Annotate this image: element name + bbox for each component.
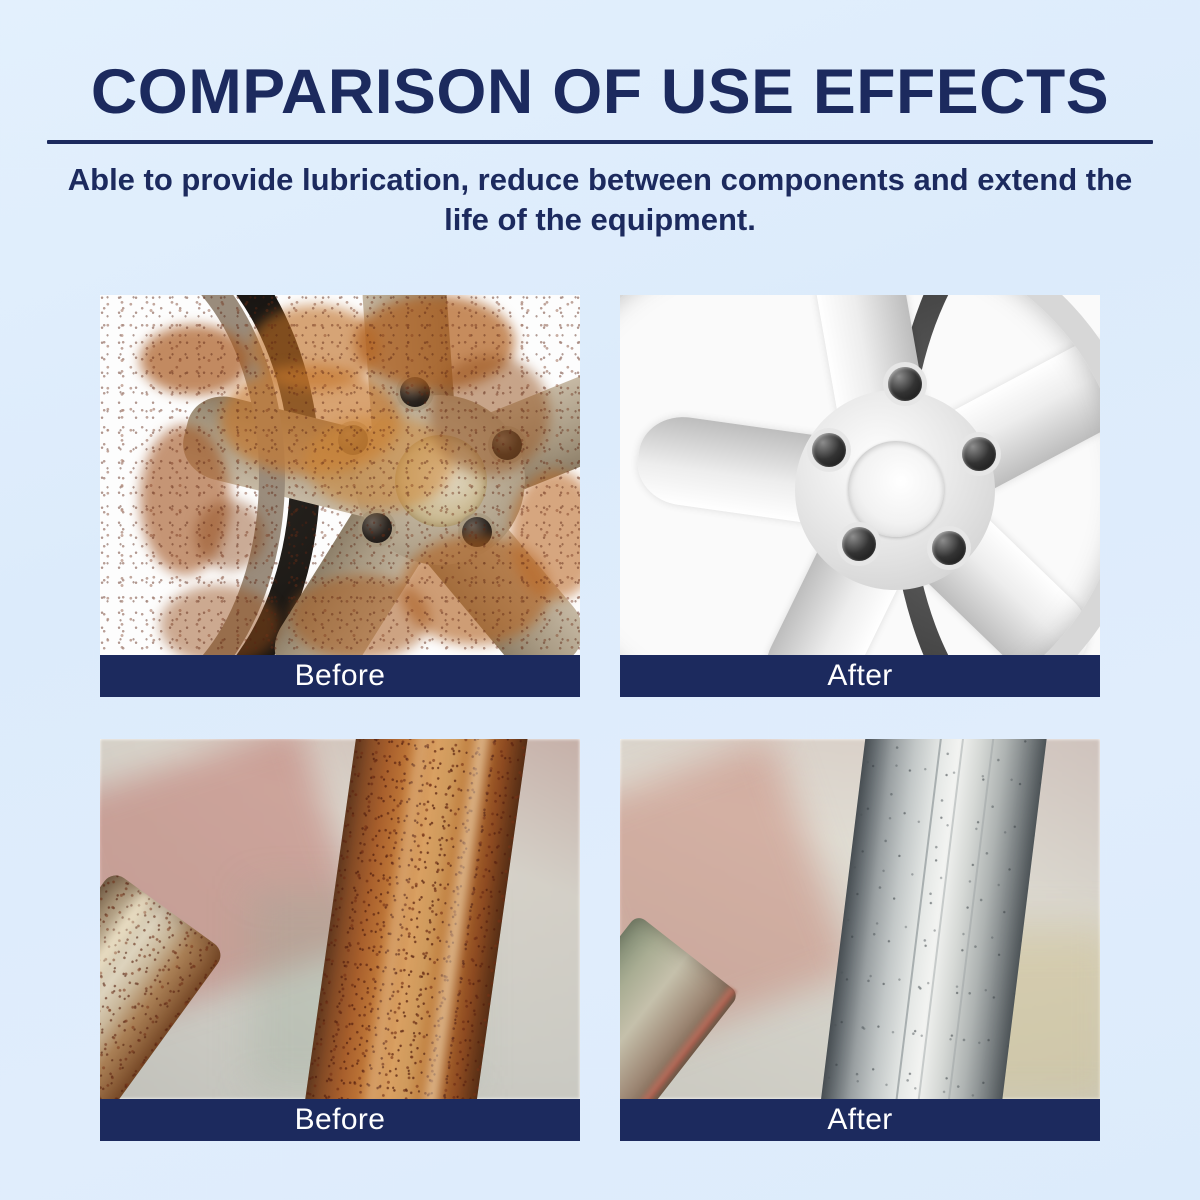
lug-nut [400,377,430,407]
wheel-center-cap [848,441,944,537]
title-divider [47,140,1153,144]
comparison-panel-pipe-after: After [620,739,1100,1141]
clean-wheel-illustration [620,295,1100,655]
wheel-rim [100,295,285,655]
lug-nut [888,367,922,401]
lug-nut [338,425,368,455]
lug-nut [362,513,392,543]
page-title: COMPARISON OF USE EFFECTS [0,60,1200,124]
photo-clean-alloy-wheel [620,295,1100,655]
lug-nut [492,430,522,460]
page-header: COMPARISON OF USE EFFECTS Able to provid… [0,0,1200,240]
lug-nut [962,437,996,471]
lug-nut [462,517,492,547]
page-subtitle: Able to provide lubrication, reduce betw… [0,160,1200,239]
photo-rusty-alloy-wheel [100,295,580,655]
photo-rusty-metal-pipe [100,739,580,1099]
panel-label-before: Before [100,655,580,697]
photo-clean-metal-pipe [620,739,1100,1099]
wheel-center-cap [395,435,487,527]
panel-label-before: Before [100,1099,580,1141]
panel-label-after: After [620,1099,1100,1141]
comparison-panel-pipe-before: Before [100,739,580,1141]
lug-nut [812,433,846,467]
lug-nut [842,527,876,561]
comparison-grid: Before After [100,295,1100,1141]
comparison-panel-wheel-after: After [620,295,1100,697]
rusty-wheel-illustration [100,295,580,655]
lug-nut [932,531,966,565]
comparison-panel-wheel-before: Before [100,295,580,697]
panel-label-after: After [620,655,1100,697]
